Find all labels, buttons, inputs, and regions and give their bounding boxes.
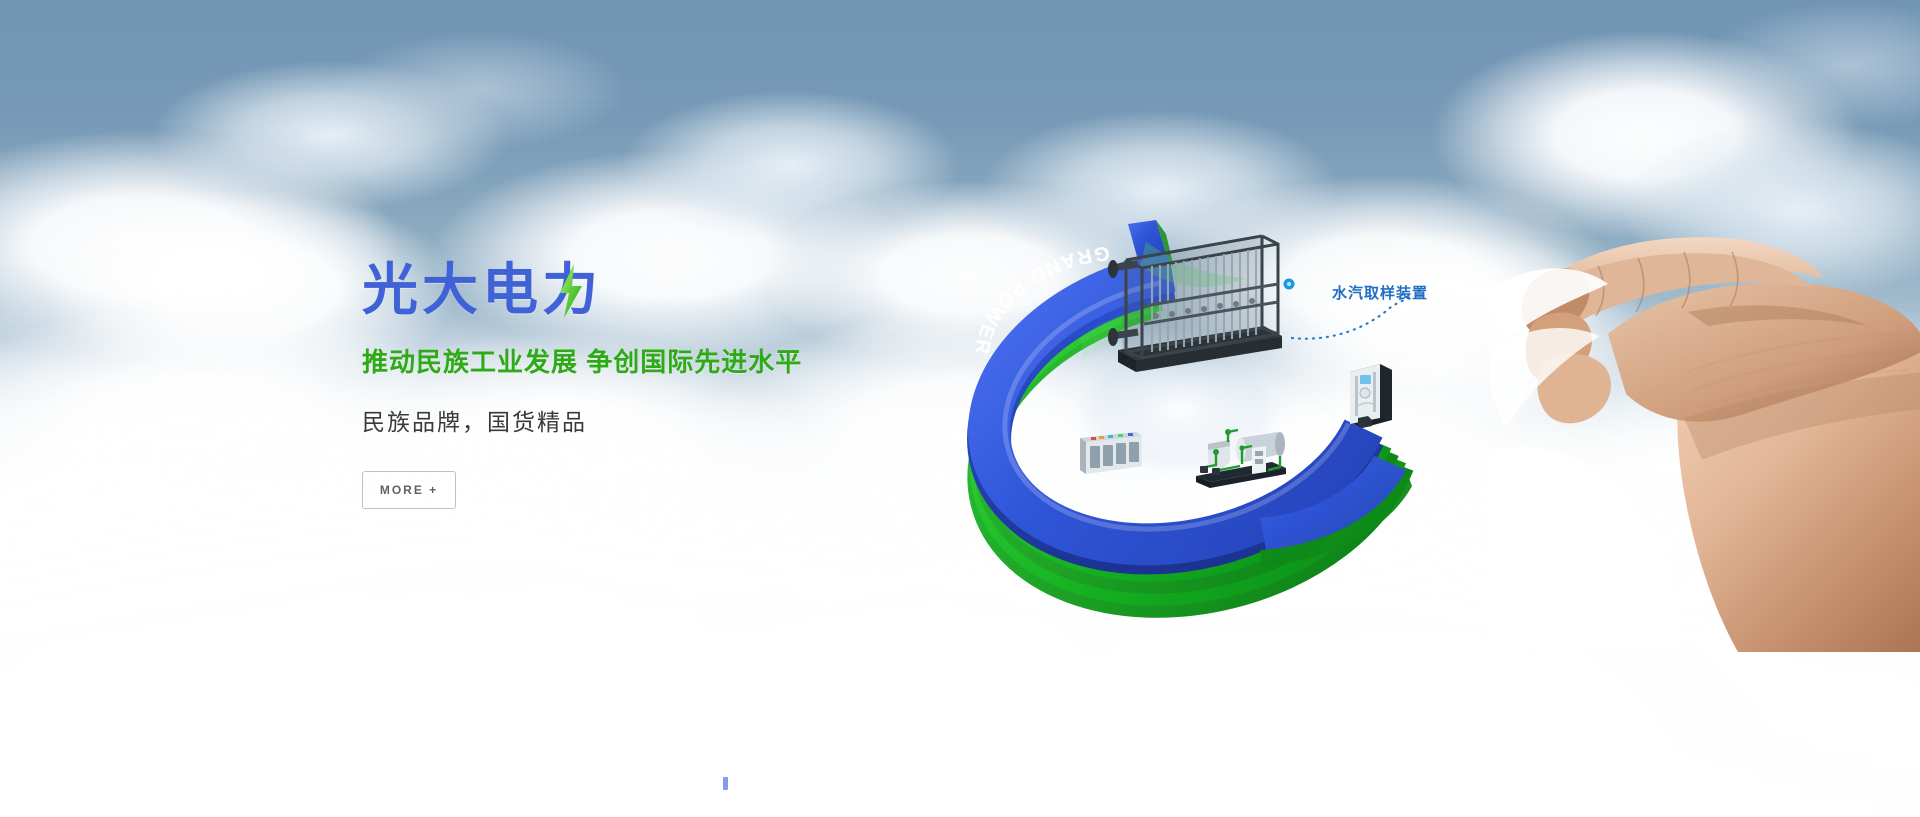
hero-subtitle: 推动民族工业发展 争创国际先进水平 xyxy=(362,342,1002,379)
hero-banner: 光大电力 推动民族工业发展 争创国际先进水平 民族品牌，国货精品 MORE + xyxy=(0,0,1920,817)
page-title: 光大电力 xyxy=(362,262,602,318)
hand-photo xyxy=(1490,222,1920,652)
hero-tagline: 民族品牌，国货精品 xyxy=(362,403,1002,437)
callout-label: 水汽取样装置 xyxy=(1332,282,1428,303)
hero-title-row: 光大电力 xyxy=(362,262,602,318)
hero-text-block: 光大电力 推动民族工业发展 争创国际先进水平 民族品牌，国货精品 MORE + xyxy=(362,262,1002,509)
online-analyzer-cabinet-icon xyxy=(1350,364,1392,428)
steam-water-sampling-rack-icon xyxy=(1108,236,1282,372)
carousel-indicator-dot[interactable] xyxy=(723,777,728,790)
ring-illustration: GRAND POWER xyxy=(960,218,1460,618)
more-button[interactable]: MORE + xyxy=(362,471,456,509)
hand-illustration xyxy=(1490,222,1920,652)
product-ring-graphic: GRAND POWER xyxy=(960,218,1460,618)
